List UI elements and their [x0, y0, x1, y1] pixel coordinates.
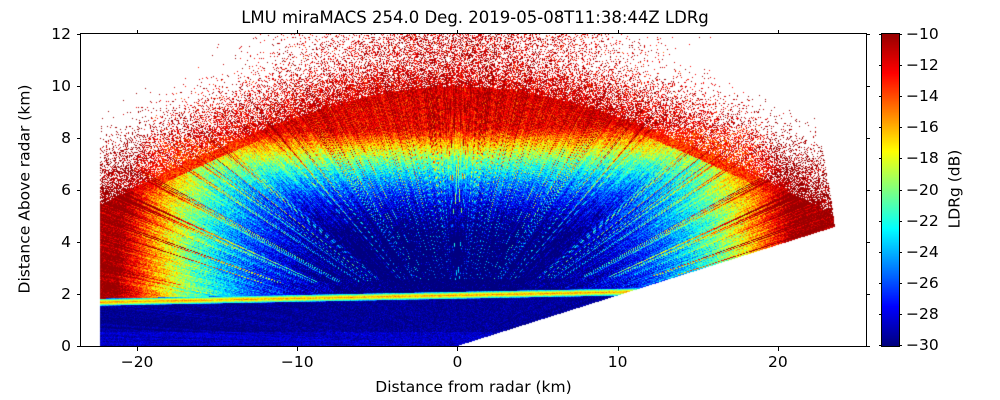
x-tick-top-3: [618, 30, 619, 34]
page-title: LMU miraMACS 254.0 Deg. 2019-05-08T11:38…: [0, 8, 950, 27]
colorbar-tick-10: [899, 34, 902, 35]
y-tick-6: [77, 34, 81, 35]
x-tick-top-4: [778, 30, 779, 34]
y-tick-label-2: 4: [61, 233, 71, 251]
colorbar-axis-label-text: LDRg (dB): [945, 150, 963, 229]
plot-axes: −20−1001020 024681012 Distance from rada…: [80, 33, 867, 347]
colorbar-tick-left-10: [879, 34, 882, 35]
colorbar-tick-4: [899, 221, 902, 222]
radar-rhi-figure: LMU miraMACS 254.0 Deg. 2019-05-08T11:38…: [0, 0, 1000, 400]
x-tick-4: [778, 347, 779, 351]
colorbar-tick-label-8: −14: [906, 87, 939, 105]
x-tick-label-1: −10: [281, 353, 314, 371]
colorbar-tick-left-0: [879, 345, 882, 346]
colorbar-tick-left-7: [879, 127, 882, 128]
colorbar-tick-0: [899, 345, 902, 346]
colorbar-tick-label-9: −12: [906, 56, 939, 74]
colorbar-tick-label-7: −16: [906, 118, 939, 136]
y-tick-right-2: [866, 242, 870, 243]
y-tick-label-4: 8: [61, 129, 71, 147]
x-tick-label-3: 10: [608, 353, 628, 371]
x-tick-label-2: 0: [453, 353, 463, 371]
x-tick-label-4: 20: [768, 353, 788, 371]
y-tick-0: [77, 346, 81, 347]
colorbar-tick-label-5: −20: [906, 181, 939, 199]
colorbar-tick-label-6: −18: [906, 149, 939, 167]
y-tick-right-0: [866, 346, 870, 347]
y-tick-label-3: 6: [61, 181, 71, 199]
colorbar-tick-9: [899, 65, 902, 66]
colorbar-tick-left-2: [879, 283, 882, 284]
x-tick-top-2: [457, 30, 458, 34]
colorbar-tick-1: [899, 314, 902, 315]
y-axis-label-text: Distance Above radar (km): [15, 85, 33, 294]
colorbar-tick-8: [899, 96, 902, 97]
colorbar-tick-left-6: [879, 158, 882, 159]
x-tick-top-0: [137, 30, 138, 34]
colorbar: −30−28−26−24−22−20−18−16−14−12−10: [881, 33, 900, 347]
y-tick-2: [77, 242, 81, 243]
x-tick-0: [137, 347, 138, 351]
y-tick-1: [77, 294, 81, 295]
colorbar-tick-7: [899, 127, 902, 128]
colorbar-tick-5: [899, 190, 902, 191]
y-axis-label: Distance Above radar (km): [14, 33, 34, 345]
colorbar-tick-2: [899, 283, 902, 284]
x-tick-2: [457, 347, 458, 351]
y-tick-label-5: 10: [51, 77, 71, 95]
y-tick-3: [77, 190, 81, 191]
colorbar-tick-label-10: −10: [906, 25, 939, 43]
colorbar-tick-6: [899, 158, 902, 159]
colorbar-axis-label: LDRg (dB): [944, 33, 964, 345]
y-tick-right-1: [866, 294, 870, 295]
y-tick-label-6: 12: [51, 25, 71, 43]
y-tick-5: [77, 86, 81, 87]
radar-data-heatmap: [81, 34, 866, 346]
y-tick-right-6: [866, 34, 870, 35]
colorbar-tick-left-1: [879, 314, 882, 315]
y-tick-right-4: [866, 138, 870, 139]
x-tick-label-0: −20: [121, 353, 154, 371]
colorbar-tick-label-0: −30: [906, 336, 939, 354]
colorbar-tick-left-9: [879, 65, 882, 66]
colorbar-tick-label-4: −22: [906, 212, 939, 230]
colorbar-tick-left-3: [879, 252, 882, 253]
x-tick-3: [618, 347, 619, 351]
colorbar-tick-left-8: [879, 96, 882, 97]
y-tick-label-1: 2: [61, 285, 71, 303]
y-tick-right-3: [866, 190, 870, 191]
x-axis-label: Distance from radar (km): [81, 378, 866, 396]
colorbar-tick-left-4: [879, 221, 882, 222]
colorbar-gradient: [882, 34, 899, 346]
y-tick-4: [77, 138, 81, 139]
colorbar-tick-label-2: −26: [906, 274, 939, 292]
colorbar-tick-label-3: −24: [906, 243, 939, 261]
colorbar-tick-3: [899, 252, 902, 253]
x-tick-top-1: [297, 30, 298, 34]
x-tick-1: [297, 347, 298, 351]
y-tick-label-0: 0: [61, 337, 71, 355]
colorbar-tick-left-5: [879, 190, 882, 191]
y-tick-right-5: [866, 86, 870, 87]
colorbar-tick-label-1: −28: [906, 305, 939, 323]
